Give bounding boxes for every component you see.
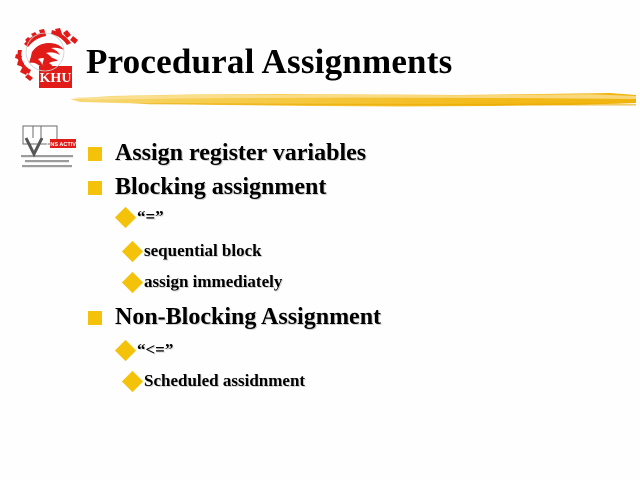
bullet-label: “=”: [137, 207, 164, 227]
diamond-bullet-icon: [122, 370, 143, 391]
bullet-label: Assign register variables: [115, 140, 366, 167]
square-bullet-icon: [88, 181, 102, 195]
slide-canvas: KHU CNS ACTIVE Procedural Assignments: [0, 0, 640, 480]
square-bullet-icon: [88, 147, 102, 161]
list-item: “<=”: [118, 340, 173, 360]
list-item: Non-Blocking Assignment: [88, 304, 381, 331]
bullet-label: Blocking assignment: [115, 174, 326, 201]
diamond-bullet-icon: [122, 240, 143, 261]
bullet-label: Non-Blocking Assignment: [115, 304, 381, 331]
list-item: Assign register variables: [88, 140, 366, 167]
bullet-label: sequential block: [144, 241, 262, 261]
bullet-label: “<=”: [137, 340, 173, 360]
bullet-list: Assign register variables Blocking assig…: [0, 0, 640, 480]
bullet-label: Scheduled assidnment: [144, 371, 305, 391]
list-item: sequential block: [125, 241, 262, 261]
list-item: “=”: [118, 207, 164, 227]
diamond-bullet-icon: [115, 339, 136, 360]
diamond-bullet-icon: [115, 206, 136, 227]
list-item: Scheduled assidnment: [125, 371, 305, 391]
list-item: assign immediately: [125, 272, 282, 292]
square-bullet-icon: [88, 311, 102, 325]
diamond-bullet-icon: [122, 271, 143, 292]
bullet-label: assign immediately: [144, 272, 282, 292]
list-item: Blocking assignment: [88, 174, 326, 201]
